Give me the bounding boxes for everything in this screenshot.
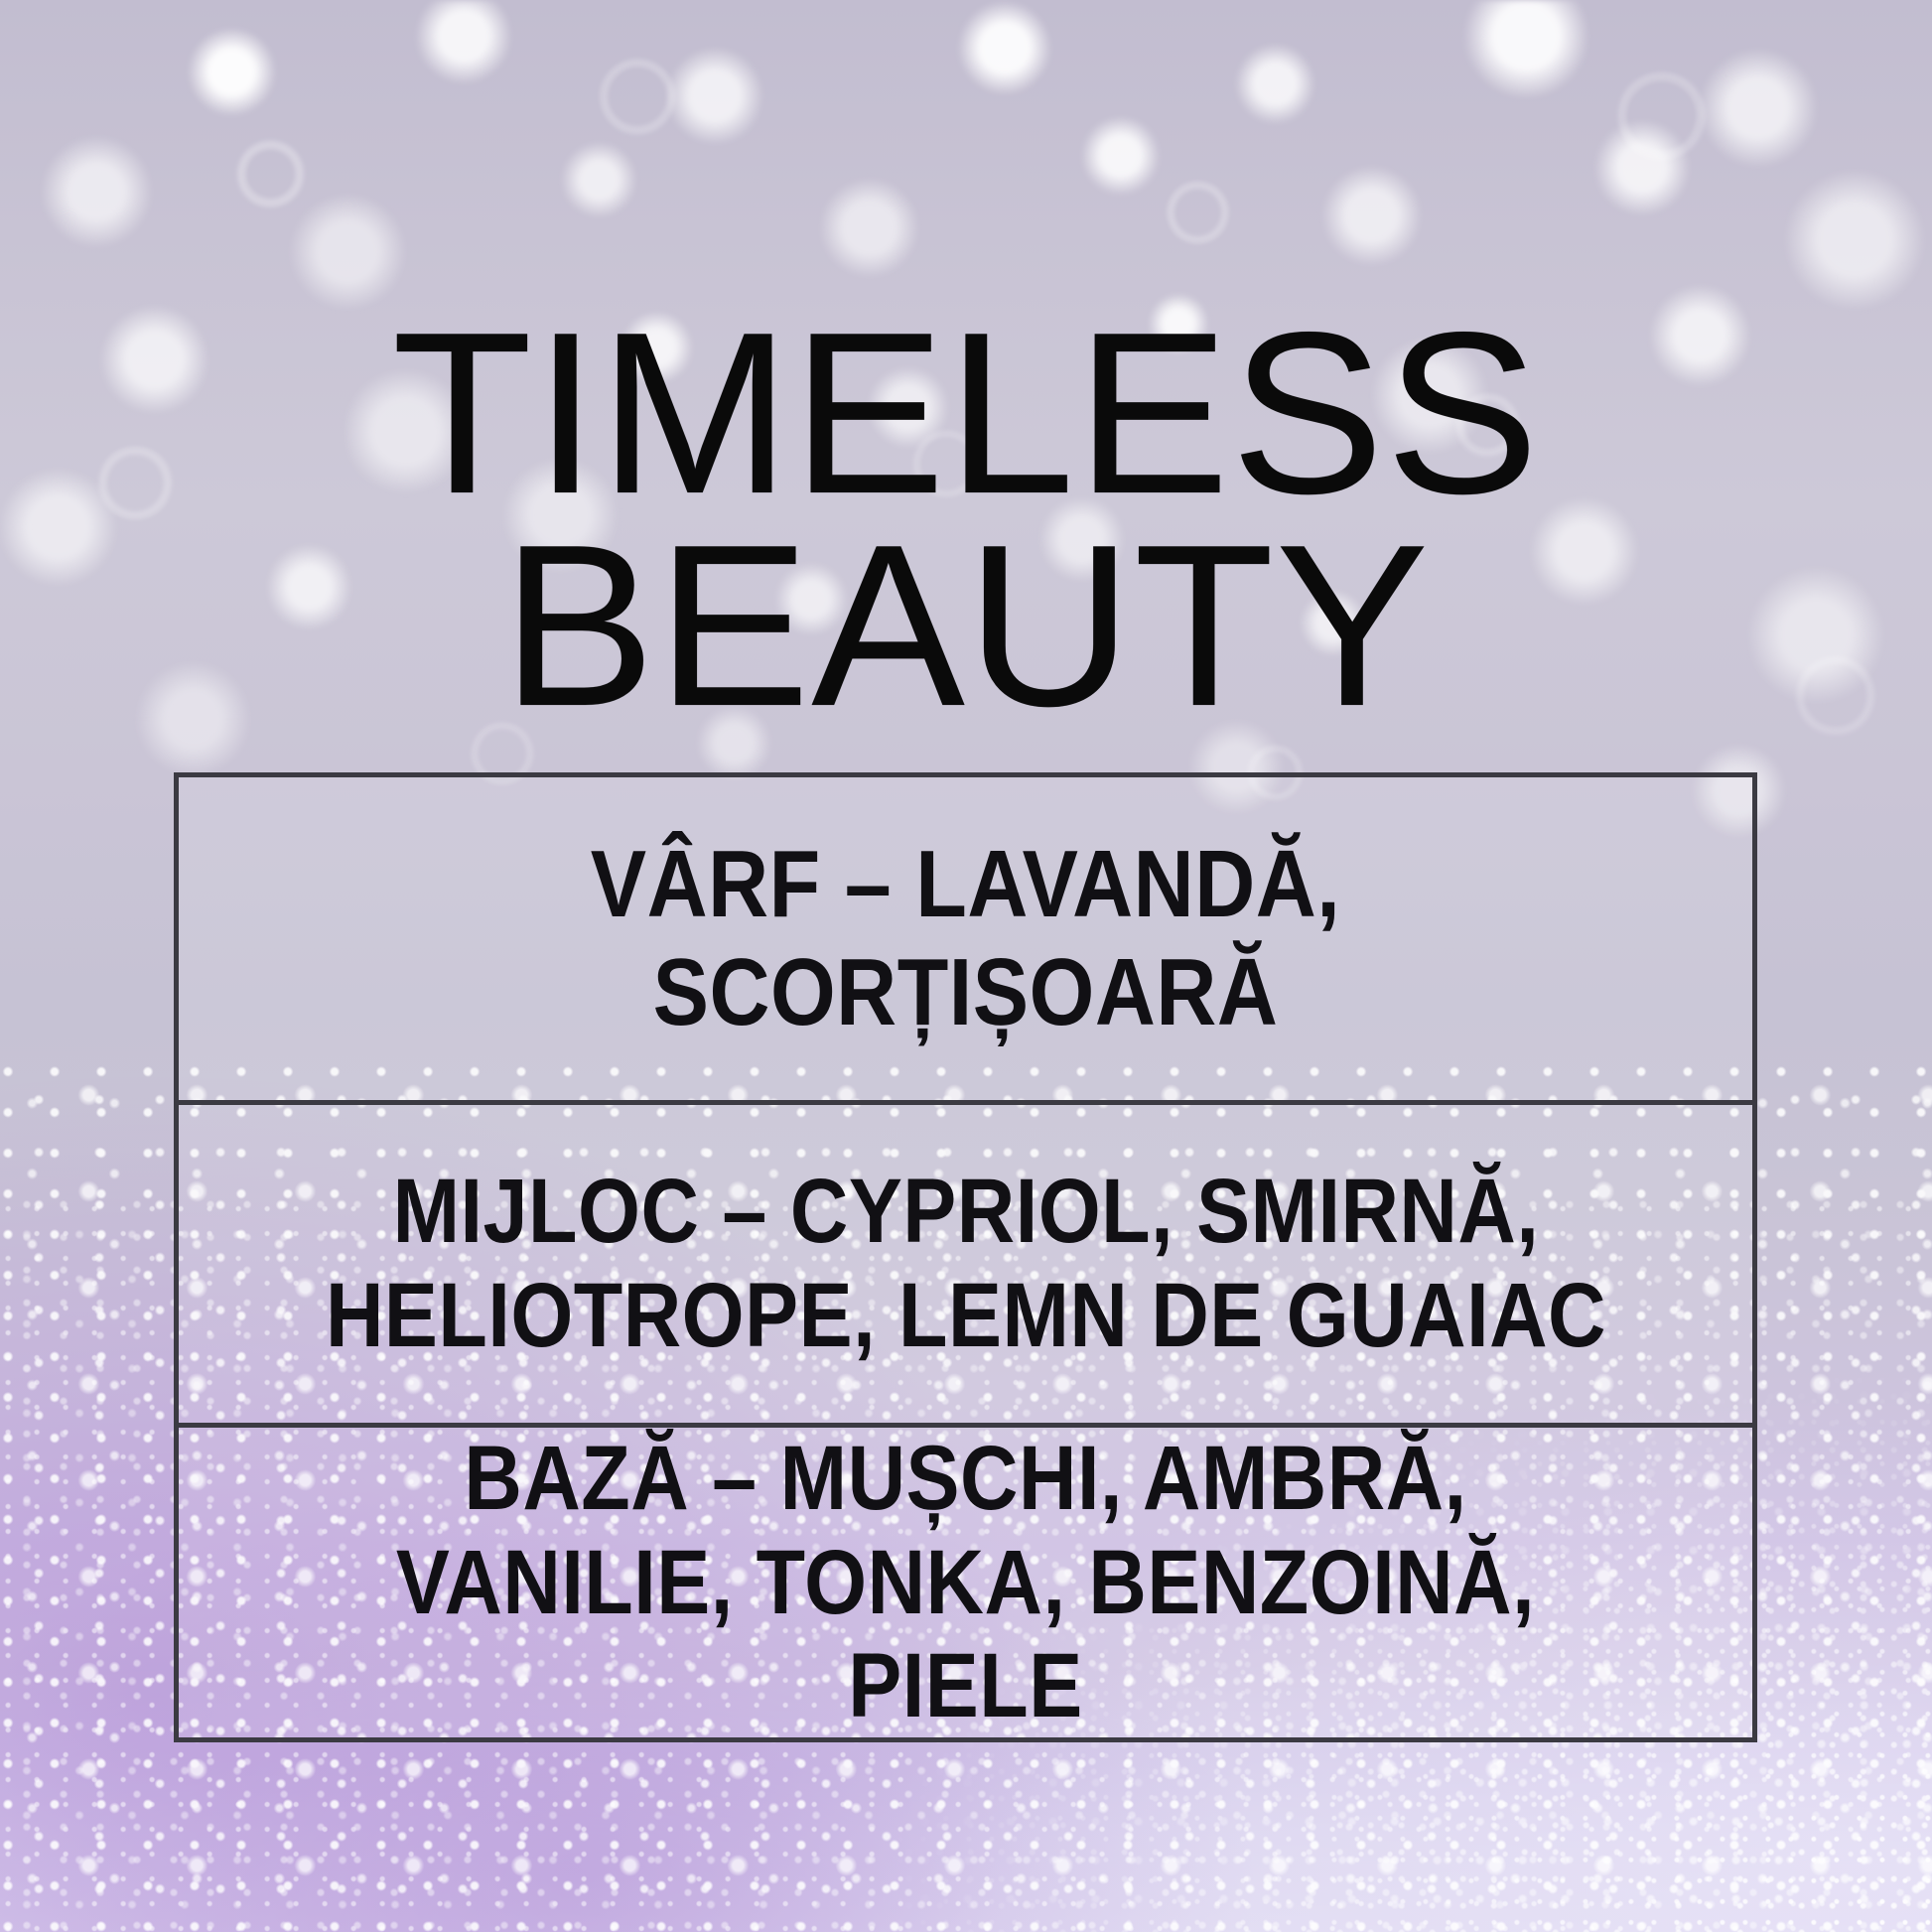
table-row-base-note: BAZĂ – MUȘCHI, AMBRĂ, VANILIE, TONKA, BE… — [179, 1423, 1752, 1737]
top-note-text: VÂRF – LAVANDĂ, SCORȚIȘOARĂ — [303, 830, 1628, 1047]
base-note-text: BAZĂ – MUȘCHI, AMBRĂ, VANILIE, TONKA, BE… — [303, 1427, 1628, 1739]
table-row-top-note: VÂRF – LAVANDĂ, SCORȚIȘOARĂ — [179, 777, 1752, 1100]
table-row-middle-note: MIJLOC – CYPRIOL, SMIRNĂ, HELIOTROPE, LE… — [179, 1100, 1752, 1423]
middle-note-text: MIJLOC – CYPRIOL, SMIRNĂ, HELIOTROPE, LE… — [325, 1160, 1605, 1368]
poster-canvas: TIMELESS BEAUTY VÂRF – LAVANDĂ, SCORȚIȘO… — [0, 0, 1932, 1932]
page-title: TIMELESS BEAUTY — [0, 308, 1932, 732]
fragrance-notes-table: VÂRF – LAVANDĂ, SCORȚIȘOARĂ MIJLOC – CYP… — [174, 772, 1757, 1742]
